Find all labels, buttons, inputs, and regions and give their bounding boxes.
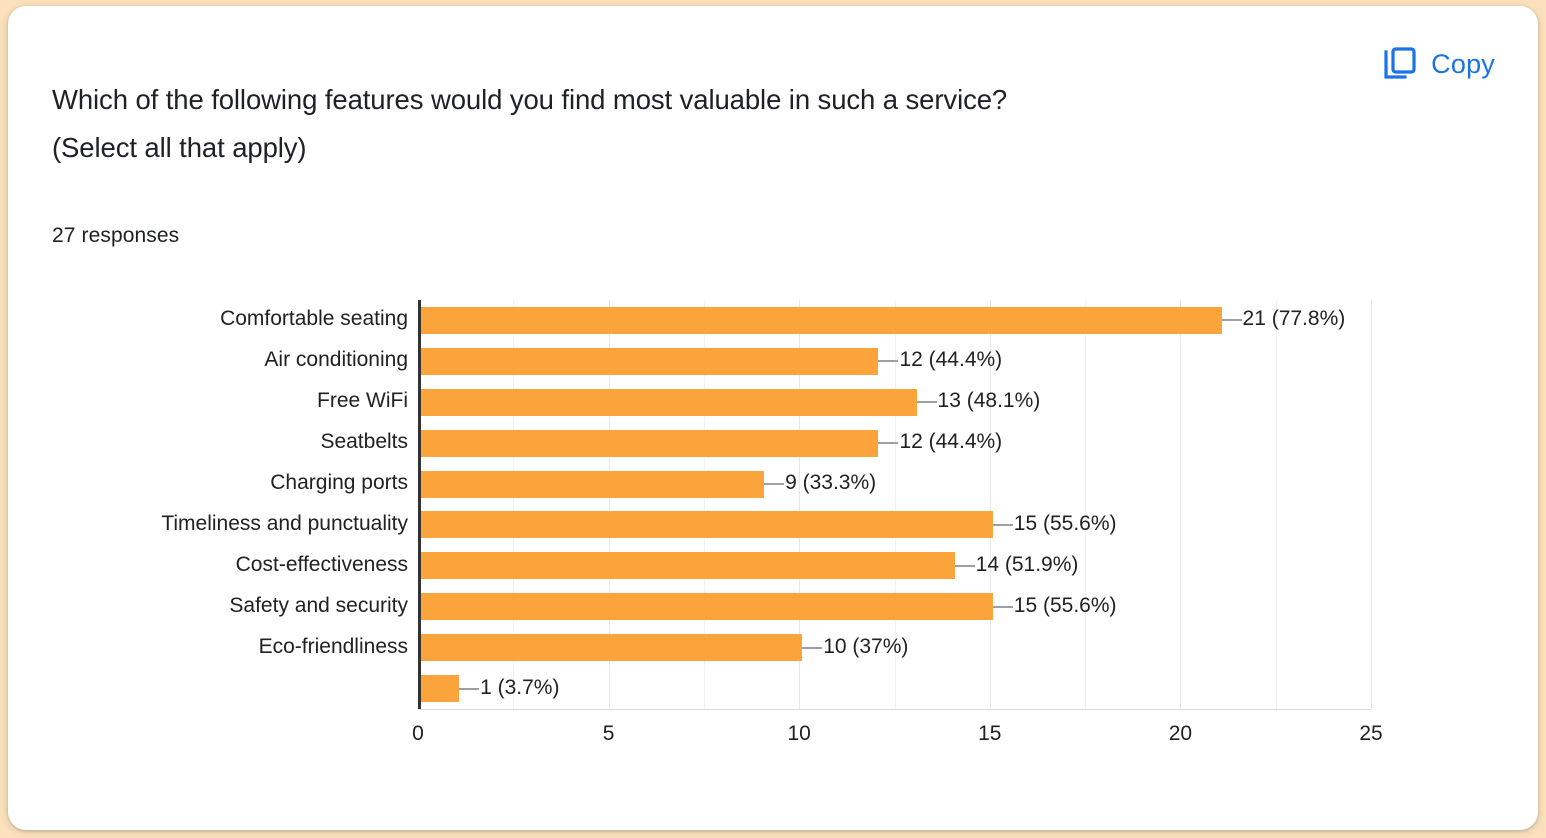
- value-leader-line: [878, 360, 898, 362]
- x-axis-tick-label: 25: [1359, 722, 1382, 746]
- y-axis-labels: Comfortable seatingAir conditioningFree …: [48, 6, 408, 830]
- bar[interactable]: [421, 675, 459, 702]
- value-leader-line: [802, 647, 822, 649]
- bar-chart: 21 (77.8%)12 (44.4%)13 (48.1%)12 (44.4%)…: [8, 6, 1538, 830]
- bar-value-label: 10 (37%): [823, 635, 908, 659]
- value-leader-line: [955, 565, 975, 567]
- y-axis-label: Timeliness and punctuality: [161, 512, 408, 536]
- bar[interactable]: [421, 511, 993, 538]
- bar[interactable]: [421, 471, 764, 498]
- bar[interactable]: [421, 307, 1222, 334]
- value-leader-line: [878, 442, 898, 444]
- gridline: [1180, 300, 1181, 709]
- bar-value-label: 15 (55.6%): [1014, 512, 1117, 536]
- value-leader-line: [459, 688, 479, 690]
- y-axis-label: Comfortable seating: [220, 307, 408, 331]
- bar[interactable]: [421, 389, 917, 416]
- x-axis-tick-label: 20: [1169, 722, 1192, 746]
- y-axis-label: Safety and security: [229, 594, 408, 618]
- value-leader-line: [993, 606, 1013, 608]
- bar[interactable]: [421, 634, 802, 661]
- bar[interactable]: [421, 430, 878, 457]
- bar-value-label: 13 (48.1%): [938, 389, 1041, 413]
- y-axis-label: Eco-friendliness: [259, 635, 408, 659]
- bar-value-label: 12 (44.4%): [899, 348, 1002, 372]
- bar-value-label: 9 (33.3%): [785, 471, 876, 495]
- bar-value-label: 21 (77.8%): [1243, 307, 1346, 331]
- y-axis-label: Charging ports: [270, 471, 408, 495]
- bar-value-label: 1 (3.7%): [480, 676, 559, 700]
- y-axis-label: Seatbelts: [320, 430, 408, 454]
- bar-value-label: 15 (55.6%): [1014, 594, 1117, 618]
- bar-value-label: 12 (44.4%): [899, 430, 1002, 454]
- x-axis-tick-label: 0: [412, 722, 424, 746]
- bar[interactable]: [421, 593, 993, 620]
- x-axis-tick-label: 15: [978, 722, 1001, 746]
- value-leader-line: [764, 483, 784, 485]
- value-leader-line: [1222, 319, 1242, 321]
- y-axis-label: Free WiFi: [317, 389, 408, 413]
- bar[interactable]: [421, 348, 878, 375]
- gridline: [1085, 300, 1086, 709]
- value-leader-line: [993, 524, 1013, 526]
- x-axis-tick-label: 10: [788, 722, 811, 746]
- value-leader-line: [917, 401, 937, 403]
- y-axis-label: Air conditioning: [264, 348, 408, 372]
- result-card: Copy Which of the following features wou…: [8, 6, 1538, 830]
- y-axis-label: Cost-effectiveness: [236, 553, 408, 577]
- bar[interactable]: [421, 552, 955, 579]
- gridline: [1371, 300, 1372, 709]
- bar-value-label: 14 (51.9%): [976, 553, 1079, 577]
- x-axis-tick-label: 5: [603, 722, 615, 746]
- x-axis-line: [418, 709, 1371, 710]
- gridline: [1276, 300, 1277, 709]
